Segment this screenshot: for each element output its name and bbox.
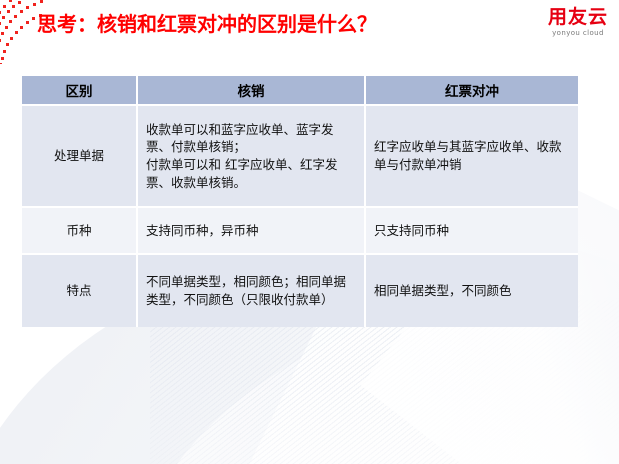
column-header-hexiao: 核销 <box>137 76 365 105</box>
slide-header: 思考：核销和红票对冲的区别是什么？ 用友云 yonyou cloud <box>0 0 619 52</box>
brand-logo-subtitle: yonyou cloud <box>543 29 613 37</box>
table-row: 处理单据 收款单可以和蓝字应收单、蓝字发票、付款单核销； 付款单可以和 红字应收… <box>22 105 578 207</box>
table-row: 特点 不同单据类型，相同颜色；相同单据类型，不同颜色（只限收付款单） 相同单据类… <box>22 254 578 327</box>
cell-hexiao-currency: 支持同币种，异币种 <box>137 207 365 254</box>
cell-hongpiao-features: 相同单据类型，不同颜色 <box>365 254 578 327</box>
brand-logo-mark: 用友云 <box>543 8 613 28</box>
row-label-currency: 币种 <box>22 207 137 254</box>
brand-logo: 用友云 yonyou cloud <box>543 8 613 37</box>
page-title: 思考：核销和红票对冲的区别是什么？ <box>37 12 377 36</box>
column-header-difference: 区别 <box>22 76 137 105</box>
slide-canvas: 思考：核销和红票对冲的区别是什么？ 用友云 yonyou cloud 区别 核销… <box>0 0 619 464</box>
comparison-table-wrapper: 区别 核销 红票对冲 处理单据 收款单可以和蓝字应收单、蓝字发票、付款单核销； … <box>22 76 578 327</box>
comparison-table: 区别 核销 红票对冲 处理单据 收款单可以和蓝字应收单、蓝字发票、付款单核销； … <box>22 76 578 327</box>
column-header-hongpiao: 红票对冲 <box>365 76 578 105</box>
row-label-features: 特点 <box>22 254 137 327</box>
cell-hongpiao-currency: 只支持同币种 <box>365 207 578 254</box>
cell-hexiao-documents: 收款单可以和蓝字应收单、蓝字发票、付款单核销； 付款单可以和 红字应收单、红字发… <box>137 105 365 207</box>
table-row: 币种 支持同币种，异币种 只支持同币种 <box>22 207 578 254</box>
row-label-documents: 处理单据 <box>22 105 137 207</box>
cell-hongpiao-documents: 红字应收单与其蓝字应收单、收款单与付款单冲销 <box>365 105 578 207</box>
cell-hexiao-features: 不同单据类型，相同颜色；相同单据类型，不同颜色（只限收付款单） <box>137 254 365 327</box>
table-header-row: 区别 核销 红票对冲 <box>22 76 578 105</box>
